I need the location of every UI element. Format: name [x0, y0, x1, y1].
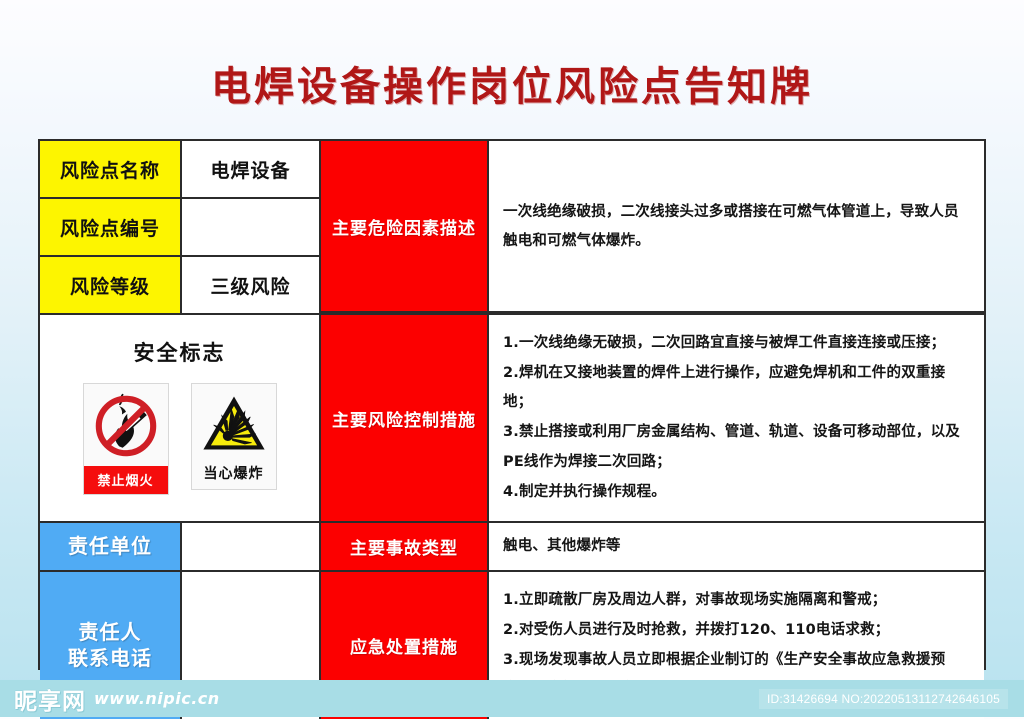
content-cell-accident-type: 触电、其他爆炸等	[489, 523, 984, 570]
value-cell-responsible-unit[interactable]	[182, 523, 321, 570]
header-cell-control-measures: 主要风险控制措施	[321, 315, 489, 521]
safety-sign-caption-no-open-flame: 禁止烟火	[84, 466, 168, 494]
label-risk-point-number: 风险点编号	[40, 199, 180, 255]
no-smoking-no-open-flame-icon	[92, 392, 160, 460]
content-cell-control-measures: 1.一次线绝缘无破损，二次回路宜直接与被焊工件直接连接或压接； 2.焊机在又接地…	[489, 315, 984, 521]
content-cell-hazard-description: 一次线绝缘破损，二次线接头过多或搭接在可燃气体管道上，导致人员触电和可燃气体爆炸…	[489, 141, 984, 313]
text-accident-type: 触电、其他爆炸等	[489, 523, 984, 570]
value-cell-risk-level[interactable]: 三级风险	[182, 257, 321, 313]
header-cell-hazard-description: 主要危险因素描述	[321, 141, 489, 313]
value-responsible-unit	[182, 523, 319, 570]
table-row: 风险点名称 电焊设备 主要危险因素描述 一次线绝缘破损，二次线接头过多或搭接在可…	[40, 141, 984, 199]
nipic-url: www.nipic.cn	[94, 689, 220, 708]
value-risk-point-number	[182, 199, 319, 255]
label-cell-risk-point-name: 风险点名称	[40, 141, 182, 197]
text-control-measures: 1.一次线绝缘无破损，二次回路宜直接与被焊工件直接连接或压接； 2.焊机在又接地…	[489, 315, 984, 521]
explosion-warning-icon	[200, 391, 268, 459]
safety-sign-caption-explosion: 当心爆炸	[204, 459, 264, 485]
table-row: 安全标志	[40, 315, 984, 523]
label-responsible-unit: 责任单位	[40, 523, 180, 570]
label-cell-responsible-unit: 责任单位	[40, 523, 182, 570]
safety-sign-explosion-warning: 当心爆炸	[191, 383, 277, 490]
header-hazard-description: 主要危险因素描述	[332, 141, 476, 311]
safety-signs-cell: 安全标志	[40, 315, 321, 521]
image-id-label: ID:31426694 NO:20220513112742646105	[759, 689, 1008, 709]
value-cell-risk-point-name[interactable]: 电焊设备	[182, 141, 321, 197]
label-responsible-person-line1: 责任人	[79, 620, 142, 644]
page-title: 电焊设备操作岗位风险点告知牌	[0, 54, 1024, 112]
label-cell-risk-point-number: 风险点编号	[40, 199, 182, 255]
safety-sign-no-open-flame: 禁止烟火	[83, 383, 169, 495]
label-risk-point-name: 风险点名称	[40, 141, 180, 197]
nipic-logo: 昵享网	[14, 682, 86, 716]
value-risk-point-name: 电焊设备	[182, 141, 319, 197]
label-contact-phone-line2: 联系电话	[68, 646, 152, 670]
text-hazard-description: 一次线绝缘破损，二次线接头过多或搭接在可燃气体管道上，导致人员触电和可燃气体爆炸…	[489, 182, 984, 270]
safety-signs-title: 安全标志	[134, 337, 226, 367]
label-cell-risk-level: 风险等级	[40, 257, 182, 313]
header-accident-type: 主要事故类型	[321, 523, 487, 570]
watermark-brand: 昵享网 www.nipic.cn	[0, 682, 220, 716]
value-risk-level: 三级风险	[182, 257, 319, 313]
header-control-measures: 主要风险控制措施	[321, 315, 487, 521]
footer-watermark-bar: 昵享网 www.nipic.cn ID:31426694 NO:20220513…	[0, 680, 1024, 717]
header-cell-accident-type: 主要事故类型	[321, 523, 489, 570]
risk-notice-board: 风险点名称 电焊设备 主要危险因素描述 一次线绝缘破损，二次线接头过多或搭接在可…	[38, 139, 986, 670]
label-risk-level: 风险等级	[40, 257, 180, 313]
value-cell-risk-point-number[interactable]	[182, 199, 321, 255]
table-row: 责任单位 主要事故类型 触电、其他爆炸等	[40, 523, 984, 572]
